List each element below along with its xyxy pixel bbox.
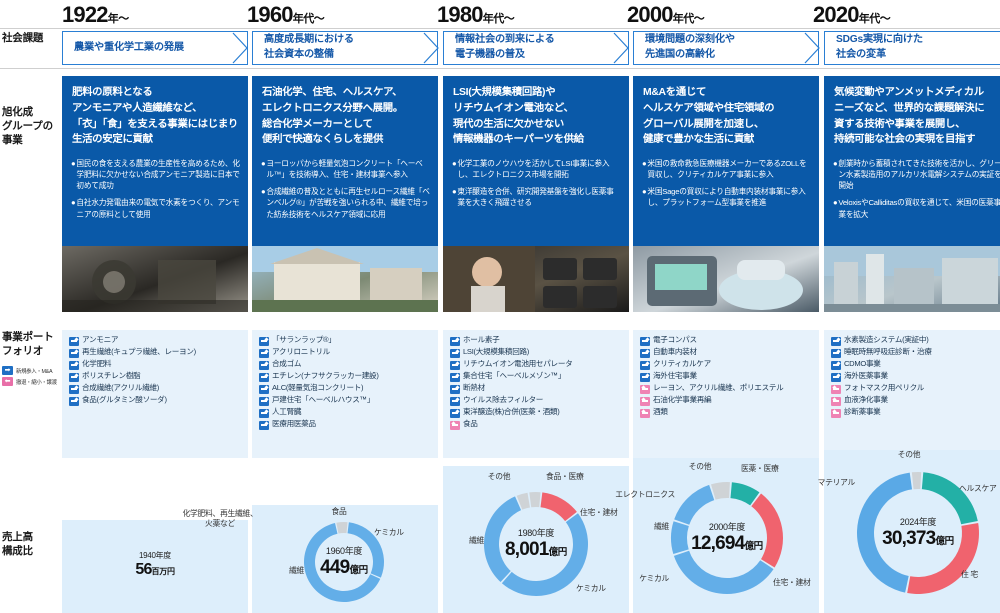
portfolio-item-label: 海外住宅事業 <box>653 371 697 381</box>
enter-arrow-icon <box>259 421 269 430</box>
portfolio-item: LSI(大規模集積回路) <box>450 347 623 358</box>
portfolio-item-label: アクリロニトリル <box>272 347 330 357</box>
legend-row-exit: ⬅ 撤退・縮小・譲渡 <box>2 377 57 386</box>
portfolio-item: 自動車内装材 <box>640 347 813 358</box>
bullet-text: 米国の救命救急医療機器メーカーであるZOLLを買収し、クリティカルケア事業に参入 <box>647 158 811 180</box>
business-bullet: ● 米国Sageの買収により自動車内装材事業に参入し、プラットフォーム型事業を推… <box>642 186 811 208</box>
social-issue-banner-1980: 情報社会の到来による 電子機器の普及 <box>443 31 629 65</box>
exit-arrow-icon <box>640 397 650 406</box>
donut-slice-label: 食品 <box>320 507 358 517</box>
business-bullet: ● 国民の食を支える農業の生産性を高めるため、化学肥料に欠かせない合成アンモニア… <box>71 158 240 191</box>
bullet-text: 国民の食を支える農業の生産性を高めるため、化学肥料に欠かせない合成アンモニア製造… <box>76 158 240 191</box>
business-bullets: ● 国民の食を支える農業の生産性を高めるため、化学肥料に欠かせない合成アンモニア… <box>62 148 248 219</box>
enter-arrow-icon <box>450 337 460 346</box>
portfolio-item-label: クリティカルケア <box>653 359 711 369</box>
legend-label-enter: 新規参入・M&A <box>16 367 52 375</box>
portfolio-item: 医療用医薬品 <box>259 419 432 430</box>
portfolio-item-label: エチレン(ナフサクラッカー建設) <box>272 371 379 381</box>
business-headline: 石油化学、住宅、ヘルスケア、 エレクトロニクス分野へ展開。 総合化学メーカーとし… <box>252 76 438 148</box>
social-issue-text: 農業や重化学工業の発展 <box>74 41 184 56</box>
enter-arrow-icon <box>69 337 79 346</box>
enter-arrow-icon <box>450 397 460 406</box>
donut-slice-label: 住 宅 <box>961 570 1000 580</box>
enter-arrow-icon <box>450 409 460 418</box>
era-number: 1960 <box>247 2 293 27</box>
business-bullets: ● ヨーロッパから軽量気泡コンクリート「ヘーベル™」を技術導入、住宅・建材事業へ… <box>252 148 438 219</box>
era-heading-2020: 2020年代〜 <box>813 2 890 28</box>
portfolio-item-label: 医療用医薬品 <box>272 419 316 429</box>
portfolio-item: 戸建住宅「ヘーベルハウス™」 <box>259 395 432 406</box>
donut-slice-label: 繊維 <box>260 566 304 576</box>
zoll-defibrillator-medical-device-photo <box>633 246 819 312</box>
era-suffix: 年代〜 <box>673 13 705 25</box>
bullet-dot-icon: ● <box>833 197 837 219</box>
social-issue-text: SDGs実現に向けた 社会の変革 <box>836 33 923 63</box>
social-issue-text: 情報社会の到来による 電子機器の普及 <box>455 33 555 63</box>
portfolio-item: ALC(軽量気泡コンクリート) <box>259 383 432 394</box>
business-bullet: ● VeloxisやCalliditasの買収を通じて、米国の医薬事業を拡大 <box>833 197 1000 219</box>
portfolio-item: ポリスチレン樹脂 <box>69 371 242 382</box>
business-headline: 気候変動やアンメットメディカル ニーズなど、世界的な課題解決に 資する技術や事業… <box>824 76 1000 148</box>
business-bullet: ● 創業時から蓄積されてきた技術を活かし、グリーン水素製造用のアルカリ水電解シス… <box>833 158 1000 191</box>
enter-arrow-icon <box>259 409 269 418</box>
enter-arrow-icon <box>640 337 650 346</box>
portfolio-item: CDMO事業 <box>831 359 1000 370</box>
portfolio-item-label: レーヨン、アクリル繊維、ポリエステル <box>653 383 783 393</box>
business-bullet: ● 合成繊維の普及とともに再生セルロース繊維「ベンベルグ®」が苦戦を強いられる中… <box>261 186 430 219</box>
bullet-dot-icon: ● <box>261 186 265 219</box>
portfolio-item-label: 東洋醸造(株)合併(医薬・酒類) <box>463 407 559 417</box>
portfolio-panel-2000: 電子コンパス 自動車内装材 クリティカルケア 海外住宅事業 レーヨン、アクリル繊… <box>633 330 819 458</box>
legend-label-exit: 撤退・縮小・譲渡 <box>16 378 57 386</box>
enter-arrow-icon <box>69 373 79 382</box>
portfolio-item-label: ALC(軽量気泡コンクリート) <box>272 383 363 393</box>
era-suffix: 年代〜 <box>483 13 515 25</box>
rail-label-social-issue: 社会課題 <box>2 31 43 45</box>
business-headline: M&Aを通じて ヘルスケア領域や住宅領域の グローバル展開を加速し、 健康で豊か… <box>633 76 819 148</box>
portfolio-item: 食品(グルタミン酸ソーダ) <box>69 395 242 406</box>
enter-arrow-icon <box>450 385 460 394</box>
donut-slice-label: 住宅・建材 <box>580 508 636 518</box>
era-number: 1980 <box>437 2 483 27</box>
sales-donut-chart-2024年度: 2024年度 30,373億円 ヘルスケア住 宅マテリアルその他 <box>857 472 979 594</box>
exit-arrow-icon <box>640 385 650 394</box>
donut-slice-label: 住宅・建材 <box>773 578 825 588</box>
enter-arrow-icon <box>450 373 460 382</box>
portfolio-item-label: 断熱材 <box>463 383 485 393</box>
portfolio-panel-1960: 「サランラップ®」 アクリロニトリル 合成ゴム エチレン(ナフサクラッカー建設)… <box>252 330 438 458</box>
bullet-text: VeloxisやCalliditasの買収を通じて、米国の医薬事業を拡大 <box>838 197 1000 219</box>
enter-arrow-icon <box>69 385 79 394</box>
bullet-dot-icon: ● <box>71 158 75 191</box>
enter-arrow-icon <box>831 361 841 370</box>
sales-donut-chart-1980年度: 1980年度 8,001億円 住宅・建材ケミカル繊維その他食品・医療 <box>484 492 588 596</box>
donut-slice-label: 医薬・医療 <box>741 464 795 474</box>
telephone-operator-and-devices-photo <box>443 246 629 312</box>
business-bullet: ● 米国の救命救急医療機器メーカーであるZOLLを買収し、クリティカルケア事業に… <box>642 158 811 180</box>
bullet-dot-icon: ● <box>452 186 456 208</box>
era-suffix: 年代〜 <box>859 13 891 25</box>
business-bullets: ● 化学工業のノウハウを活かしてLSI事業に参入し、エレクトロニクス市場を開拓 … <box>443 148 629 208</box>
portfolio-item: 化学肥料 <box>69 359 242 370</box>
donut-slice-label: 繊維 <box>627 522 669 532</box>
portfolio-item: 東洋醸造(株)合併(医薬・酒類) <box>450 407 623 418</box>
enter-arrow-icon <box>450 361 460 370</box>
era-suffix: 年〜 <box>108 13 129 25</box>
alkaline-water-electrolysis-plant-photo <box>824 246 1000 312</box>
exit-arrow-icon <box>831 385 841 394</box>
bullet-dot-icon: ● <box>642 158 646 180</box>
rail-label-group-business: 旭化成 グループの 事業 <box>2 105 53 148</box>
exit-arrow-icon <box>450 421 460 430</box>
portfolio-item-label: 診断薬事業 <box>844 407 880 417</box>
sales-donut-chart-1940年度: 1940年度 56百万円 化学肥料、再生繊維、 火薬など <box>124 535 186 597</box>
era-heading-2000: 2000年代〜 <box>627 2 704 28</box>
business-bullets: ● 創業時から蓄積されてきた技術を活かし、グリーン水素製造用のアルカリ水電解シス… <box>824 148 1000 219</box>
enter-arrow-icon <box>259 349 269 358</box>
portfolio-item: ウイルス除去フィルター <box>450 395 623 406</box>
portfolio-item: 合成ゴム <box>259 359 432 370</box>
bullet-dot-icon: ● <box>71 197 75 219</box>
portfolio-item-label: ポリスチレン樹脂 <box>82 371 140 381</box>
donut-slice-label: その他 <box>679 462 721 472</box>
portfolio-item: 水素製造システム(実証中) <box>831 335 1000 346</box>
business-bullet: ● 自社水力発電由来の電気で水素をつくり、アンモニアの原料として使用 <box>71 197 240 219</box>
donut-slice-label: 化学肥料、再生繊維、 火薬など <box>160 509 280 528</box>
portfolio-item: 断熱材 <box>450 383 623 394</box>
portfolio-item: 血液浄化事業 <box>831 395 1000 406</box>
enter-arrow-icon <box>259 385 269 394</box>
portfolio-item: 集合住宅「ヘーベルメゾン™」 <box>450 371 623 382</box>
divider-top <box>0 28 1000 29</box>
portfolio-item-label: リチウムイオン電池用セパレータ <box>463 359 572 369</box>
portfolio-item: 合成繊維(アクリル繊維) <box>69 383 242 394</box>
vintage-factory-machinery-photo <box>62 246 248 312</box>
bullet-text: 化学工業のノウハウを活かしてLSI事業に参入し、エレクトロニクス市場を開拓 <box>457 158 621 180</box>
portfolio-panel-2020: 水素製造システム(実証中) 睡眠時無呼吸症診断・治療 CDMO事業 海外医薬事業… <box>824 330 1000 458</box>
enter-arrow-icon: ➡ <box>2 366 13 375</box>
portfolio-item: 再生繊維(キュプラ繊維、レーヨン) <box>69 347 242 358</box>
exit-arrow-icon <box>831 397 841 406</box>
donut-slice-label: ケミカル <box>617 574 669 584</box>
portfolio-item-label: 酒類 <box>653 407 668 417</box>
era-heading-1980: 1980年代〜 <box>437 2 514 28</box>
divider-mid <box>0 68 1000 69</box>
portfolio-item: 石油化学事業再編 <box>640 395 813 406</box>
portfolio-item: 「サランラップ®」 <box>259 335 432 346</box>
portfolio-item: アクリロニトリル <box>259 347 432 358</box>
rail-label-portfolio: 事業ポート フォリオ <box>2 330 54 358</box>
enter-arrow-icon <box>640 361 650 370</box>
bullet-text: 合成繊維の普及とともに再生セルロース繊維「ベンベルグ®」が苦戦を強いられる中、繊… <box>266 186 430 219</box>
donut-slice-label: その他 <box>887 450 931 460</box>
business-bullet: ● ヨーロッパから軽量気泡コンクリート「ヘーベル™」を技術導入、住宅・建材事業へ… <box>261 158 430 180</box>
era-number: 2020 <box>813 2 859 27</box>
portfolio-item-label: 自動車内装材 <box>653 347 697 357</box>
bullet-text: ヨーロッパから軽量気泡コンクリート「ヘーベル™」を技術導入、住宅・建材事業へ参入 <box>266 158 430 180</box>
portfolio-item-label: 電子コンパス <box>653 335 697 345</box>
portfolio-item-label: 海外医薬事業 <box>844 371 888 381</box>
enter-arrow-icon <box>831 337 841 346</box>
portfolio-item: 人工腎臓 <box>259 407 432 418</box>
enter-arrow-icon <box>259 373 269 382</box>
portfolio-item-label: 集合住宅「ヘーベルメゾン™」 <box>463 371 565 381</box>
bullet-dot-icon: ● <box>642 186 646 208</box>
portfolio-item-label: 血液浄化事業 <box>844 395 888 405</box>
portfolio-item-label: ウイルス除去フィルター <box>463 395 543 405</box>
era-number: 1922 <box>62 2 108 27</box>
social-issue-text: 高度成長期における 社会資本の整備 <box>264 33 354 63</box>
portfolio-item-label: 水素製造システム(実証中) <box>844 335 928 345</box>
portfolio-item: 酒類 <box>640 407 813 418</box>
donut-slice-label: ヘルスケア <box>959 484 1000 494</box>
portfolio-item: ホール素子 <box>450 335 623 346</box>
donut-slice-label: エレクトロニクス <box>609 490 675 500</box>
donut-slice-label: マテリアル <box>795 478 855 488</box>
portfolio-item-label: 食品 <box>463 419 478 429</box>
business-bullet: ● 化学工業のノウハウを活かしてLSI事業に参入し、エレクトロニクス市場を開拓 <box>452 158 621 180</box>
social-issue-banner-2000: 環境問題の深刻化や 先進国の高齢化 <box>633 31 819 65</box>
donut-slice-label: 食品・医療 <box>546 472 600 482</box>
social-issue-banner-1922: 農業や重化学工業の発展 <box>62 31 248 65</box>
portfolio-item: クリティカルケア <box>640 359 813 370</box>
portfolio-item-label: 化学肥料 <box>82 359 111 369</box>
social-issue-banner-1960: 高度成長期における 社会資本の整備 <box>252 31 438 65</box>
rail-label-sales-mix: 売上高 構成比 <box>2 530 33 558</box>
hebel-house-residential-photo <box>252 246 438 312</box>
portfolio-item-label: CDMO事業 <box>844 359 881 369</box>
portfolio-item: レーヨン、アクリル繊維、ポリエステル <box>640 383 813 394</box>
portfolio-item: アンモニア <box>69 335 242 346</box>
exit-arrow-icon <box>831 409 841 418</box>
business-headline: LSI(大規模集積回路)や リチウムイオン電池など、 現代の生活に欠かせない 情… <box>443 76 629 148</box>
era-heading-1922: 1922年〜 <box>62 2 129 28</box>
bullet-dot-icon: ● <box>261 158 265 180</box>
portfolio-item-label: 「サランラップ®」 <box>272 335 336 345</box>
portfolio-item-label: フォトマスク用ペリクル <box>844 383 924 393</box>
portfolio-item-label: 合成ゴム <box>272 359 301 369</box>
enter-arrow-icon <box>69 361 79 370</box>
era-suffix: 年代〜 <box>293 13 325 25</box>
exit-arrow-icon <box>640 409 650 418</box>
era-heading-1960: 1960年代〜 <box>247 2 324 28</box>
sales-donut-chart-1960年度: 1960年度 449億円 ケミカル繊維食品 <box>304 522 384 602</box>
enter-arrow-icon <box>69 349 79 358</box>
portfolio-item-label: アンモニア <box>82 335 118 345</box>
portfolio-panel-1980: ホール素子 LSI(大規模集積回路) リチウムイオン電池用セパレータ 集合住宅「… <box>443 330 629 458</box>
portfolio-item: 診断薬事業 <box>831 407 1000 418</box>
portfolio-item-label: 人工腎臓 <box>272 407 301 417</box>
portfolio-item: エチレン(ナフサクラッカー建設) <box>259 371 432 382</box>
bullet-dot-icon: ● <box>833 158 837 191</box>
portfolio-item-label: 合成繊維(アクリル繊維) <box>82 383 159 393</box>
enter-arrow-icon <box>831 373 841 382</box>
bullet-text: 自社水力発電由来の電気で水素をつくり、アンモニアの原料として使用 <box>76 197 240 219</box>
enter-arrow-icon <box>831 349 841 358</box>
portfolio-item-label: 戸建住宅「ヘーベルハウス™」 <box>272 395 374 405</box>
donut-slice-label: その他 <box>476 472 522 482</box>
donut-slice-label: 繊維 <box>440 536 484 546</box>
social-issue-banner-2020: SDGs実現に向けた 社会の変革 <box>824 31 1000 65</box>
infographic-page: 社会課題 旭化成 グループの 事業 事業ポート フォリオ 売上高 構成比 ➡ 新… <box>0 0 1000 613</box>
portfolio-item-label: ホール素子 <box>463 335 499 345</box>
portfolio-item: 海外医薬事業 <box>831 371 1000 382</box>
portfolio-item: 食品 <box>450 419 623 430</box>
business-bullets: ● 米国の救命救急医療機器メーカーであるZOLLを買収し、クリティカルケア事業に… <box>633 148 819 208</box>
donut-slice-label: ケミカル <box>576 584 626 594</box>
enter-arrow-icon <box>259 397 269 406</box>
enter-arrow-icon <box>259 361 269 370</box>
portfolio-item-label: LSI(大規模集積回路) <box>463 347 529 357</box>
business-headline: 肥料の原料となる アンモニアや人造繊維など、 「衣」「食」を支える事業にはじまり… <box>62 76 248 148</box>
portfolio-item: 電子コンパス <box>640 335 813 346</box>
bullet-dot-icon: ● <box>452 158 456 180</box>
portfolio-item: 睡眠時無呼吸症診断・治療 <box>831 347 1000 358</box>
enter-arrow-icon <box>69 397 79 406</box>
era-number: 2000 <box>627 2 673 27</box>
sales-donut-chart-2000年度: 2000年度 12,694億円 医薬・医療住宅・建材ケミカル繊維エレクトロニクス… <box>671 482 783 594</box>
portfolio-item: 海外住宅事業 <box>640 371 813 382</box>
portfolio-item: リチウムイオン電池用セパレータ <box>450 359 623 370</box>
enter-arrow-icon <box>450 349 460 358</box>
donut-slice-label: ケミカル <box>374 528 420 538</box>
enter-arrow-icon <box>640 373 650 382</box>
enter-arrow-icon <box>640 349 650 358</box>
portfolio-panel-1922: アンモニア 再生繊維(キュプラ繊維、レーヨン) 化学肥料 ポリスチレン樹脂 合成… <box>62 330 248 458</box>
exit-arrow-icon: ⬅ <box>2 377 13 386</box>
bullet-text: 米国Sageの買収により自動車内装材事業に参入し、プラットフォーム型事業を推進 <box>647 186 811 208</box>
business-bullet: ● 東洋醸造を合併、研究開発基盤を強化し医薬事業を大きく飛躍させる <box>452 186 621 208</box>
bullet-text: 創業時から蓄積されてきた技術を活かし、グリーン水素製造用のアルカリ水電解システム… <box>838 158 1000 191</box>
portfolio-legend: ➡ 新規参入・M&A ⬅ 撤退・縮小・譲渡 <box>2 366 57 388</box>
portfolio-item-label: 食品(グルタミン酸ソーダ) <box>82 395 167 405</box>
enter-arrow-icon <box>259 337 269 346</box>
social-issue-text: 環境問題の深刻化や 先進国の高齢化 <box>645 33 735 63</box>
portfolio-item-label: 石油化学事業再編 <box>653 395 711 405</box>
portfolio-item: フォトマスク用ペリクル <box>831 383 1000 394</box>
portfolio-item-label: 再生繊維(キュプラ繊維、レーヨン) <box>82 347 196 357</box>
bullet-text: 東洋醸造を合併、研究開発基盤を強化し医薬事業を大きく飛躍させる <box>457 186 621 208</box>
portfolio-item-label: 睡眠時無呼吸症診断・治療 <box>844 347 932 357</box>
legend-row-enter: ➡ 新規参入・M&A <box>2 366 57 375</box>
